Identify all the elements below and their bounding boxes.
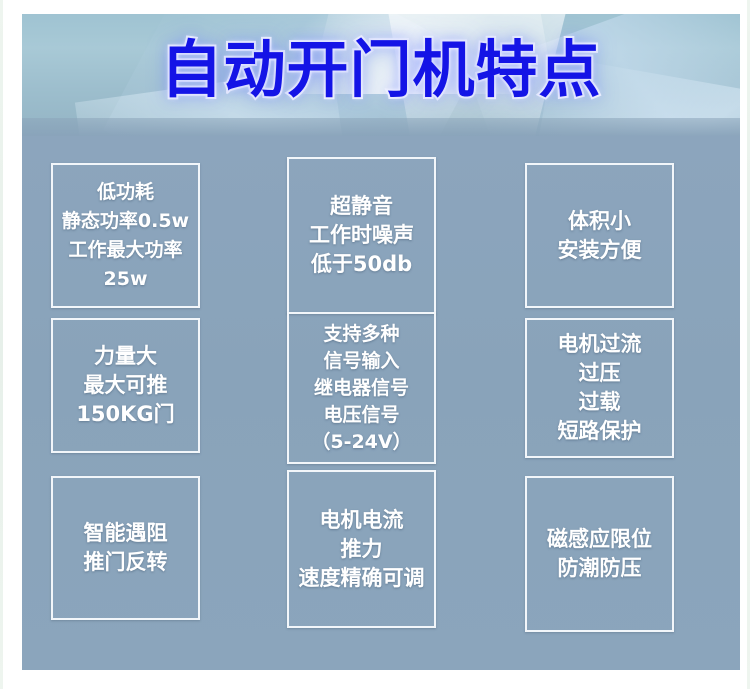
feature-line: 超静音 [330,192,393,221]
feature-line: 推门反转 [84,548,168,577]
feature-line: 继电器信号 [314,375,409,402]
feature-box-motor-protection: 电机过流过压过载短路保护 [525,318,674,458]
feature-line: 力量大 [94,342,157,371]
feature-box-multi-signal-input: 支持多种信号输入继电器信号电压信号（5-24V） [287,312,436,464]
feature-line: 低于50db [311,250,412,279]
feature-box-low-power-consumption: 低功耗静态功率0.5w工作最大功率25w [51,163,200,308]
feature-line: 短路保护 [558,417,642,446]
feature-line: 支持多种 [323,321,399,348]
feature-line: 工作时噪声 [309,221,414,250]
feature-line: 低功耗 [97,178,154,207]
page-title: 自动开门机特点 [22,30,740,110]
feature-line: （5-24V） [311,429,411,456]
feature-box-obstacle-detection: 智能遇阻推门反转 [51,476,200,620]
left-edge-strip [0,0,3,689]
feature-line: 电压信号 [323,402,399,429]
feature-line: 最大可推 [84,371,168,400]
feature-grid: 低功耗静态功率0.5w工作最大功率25w 超静音工作时噪声低于50db 体积小安… [22,136,740,670]
feature-line: 电机电流 [320,506,404,535]
feature-line: 150KG门 [76,400,174,429]
feature-line: 工作最大功率 [68,236,182,265]
feature-line: 智能遇阻 [84,519,168,548]
feature-line: 推力 [341,535,383,564]
feature-line: 静态功率0.5w [62,207,189,236]
banner-bottom-band [22,118,740,136]
feature-line: 速度精确可调 [299,564,425,593]
feature-line: 过压 [579,359,621,388]
feature-box-strong-power: 力量大最大可推150KG门 [51,318,200,453]
feature-line: 电机过流 [558,330,642,359]
feature-line: 体积小 [568,207,631,236]
feature-panel: 低功耗静态功率0.5w工作最大功率25w 超静音工作时噪声低于50db 体积小安… [22,136,740,670]
feature-box-adjustable-parameters: 电机电流推力速度精确可调 [287,470,436,628]
feature-box-magnetic-limit: 磁感应限位防潮防压 [525,476,674,632]
product-feature-poster: 自动开门机特点 低功耗静态功率0.5w工作最大功率25w 超静音工作时噪声低于5… [0,0,750,689]
feature-line: 磁感应限位 [547,525,652,554]
feature-line: 安装方便 [558,236,642,265]
feature-box-small-size: 体积小安装方便 [525,163,674,308]
feature-line: 25w [104,265,148,294]
feature-line: 过载 [579,388,621,417]
header-banner: 自动开门机特点 [22,14,740,136]
feature-line: 防潮防压 [558,554,642,583]
feature-box-ultra-quiet: 超静音工作时噪声低于50db [287,157,436,314]
feature-line: 信号输入 [323,348,399,375]
